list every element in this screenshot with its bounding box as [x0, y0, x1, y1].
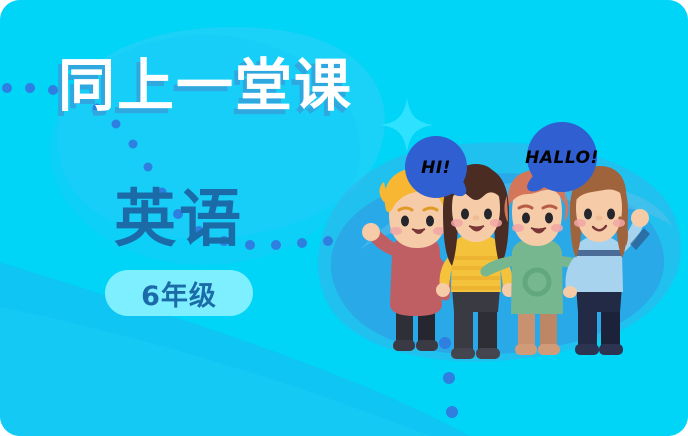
hallo-bubble-text: HALLO!	[525, 148, 599, 168]
hi-bubble-text: HI!	[421, 158, 451, 178]
hallo-bubble: HALLO!	[525, 122, 599, 192]
grade-badge-label: 6年级	[141, 274, 217, 313]
page-title: 同上一堂课	[58, 56, 353, 116]
grade-badge: 6年级	[105, 270, 253, 316]
subject-title: 英语	[114, 186, 244, 252]
hi-bubble: HI!	[405, 136, 467, 198]
course-cover-card: HI! HALLO! 同上一堂课 英语 6年级	[0, 0, 688, 436]
